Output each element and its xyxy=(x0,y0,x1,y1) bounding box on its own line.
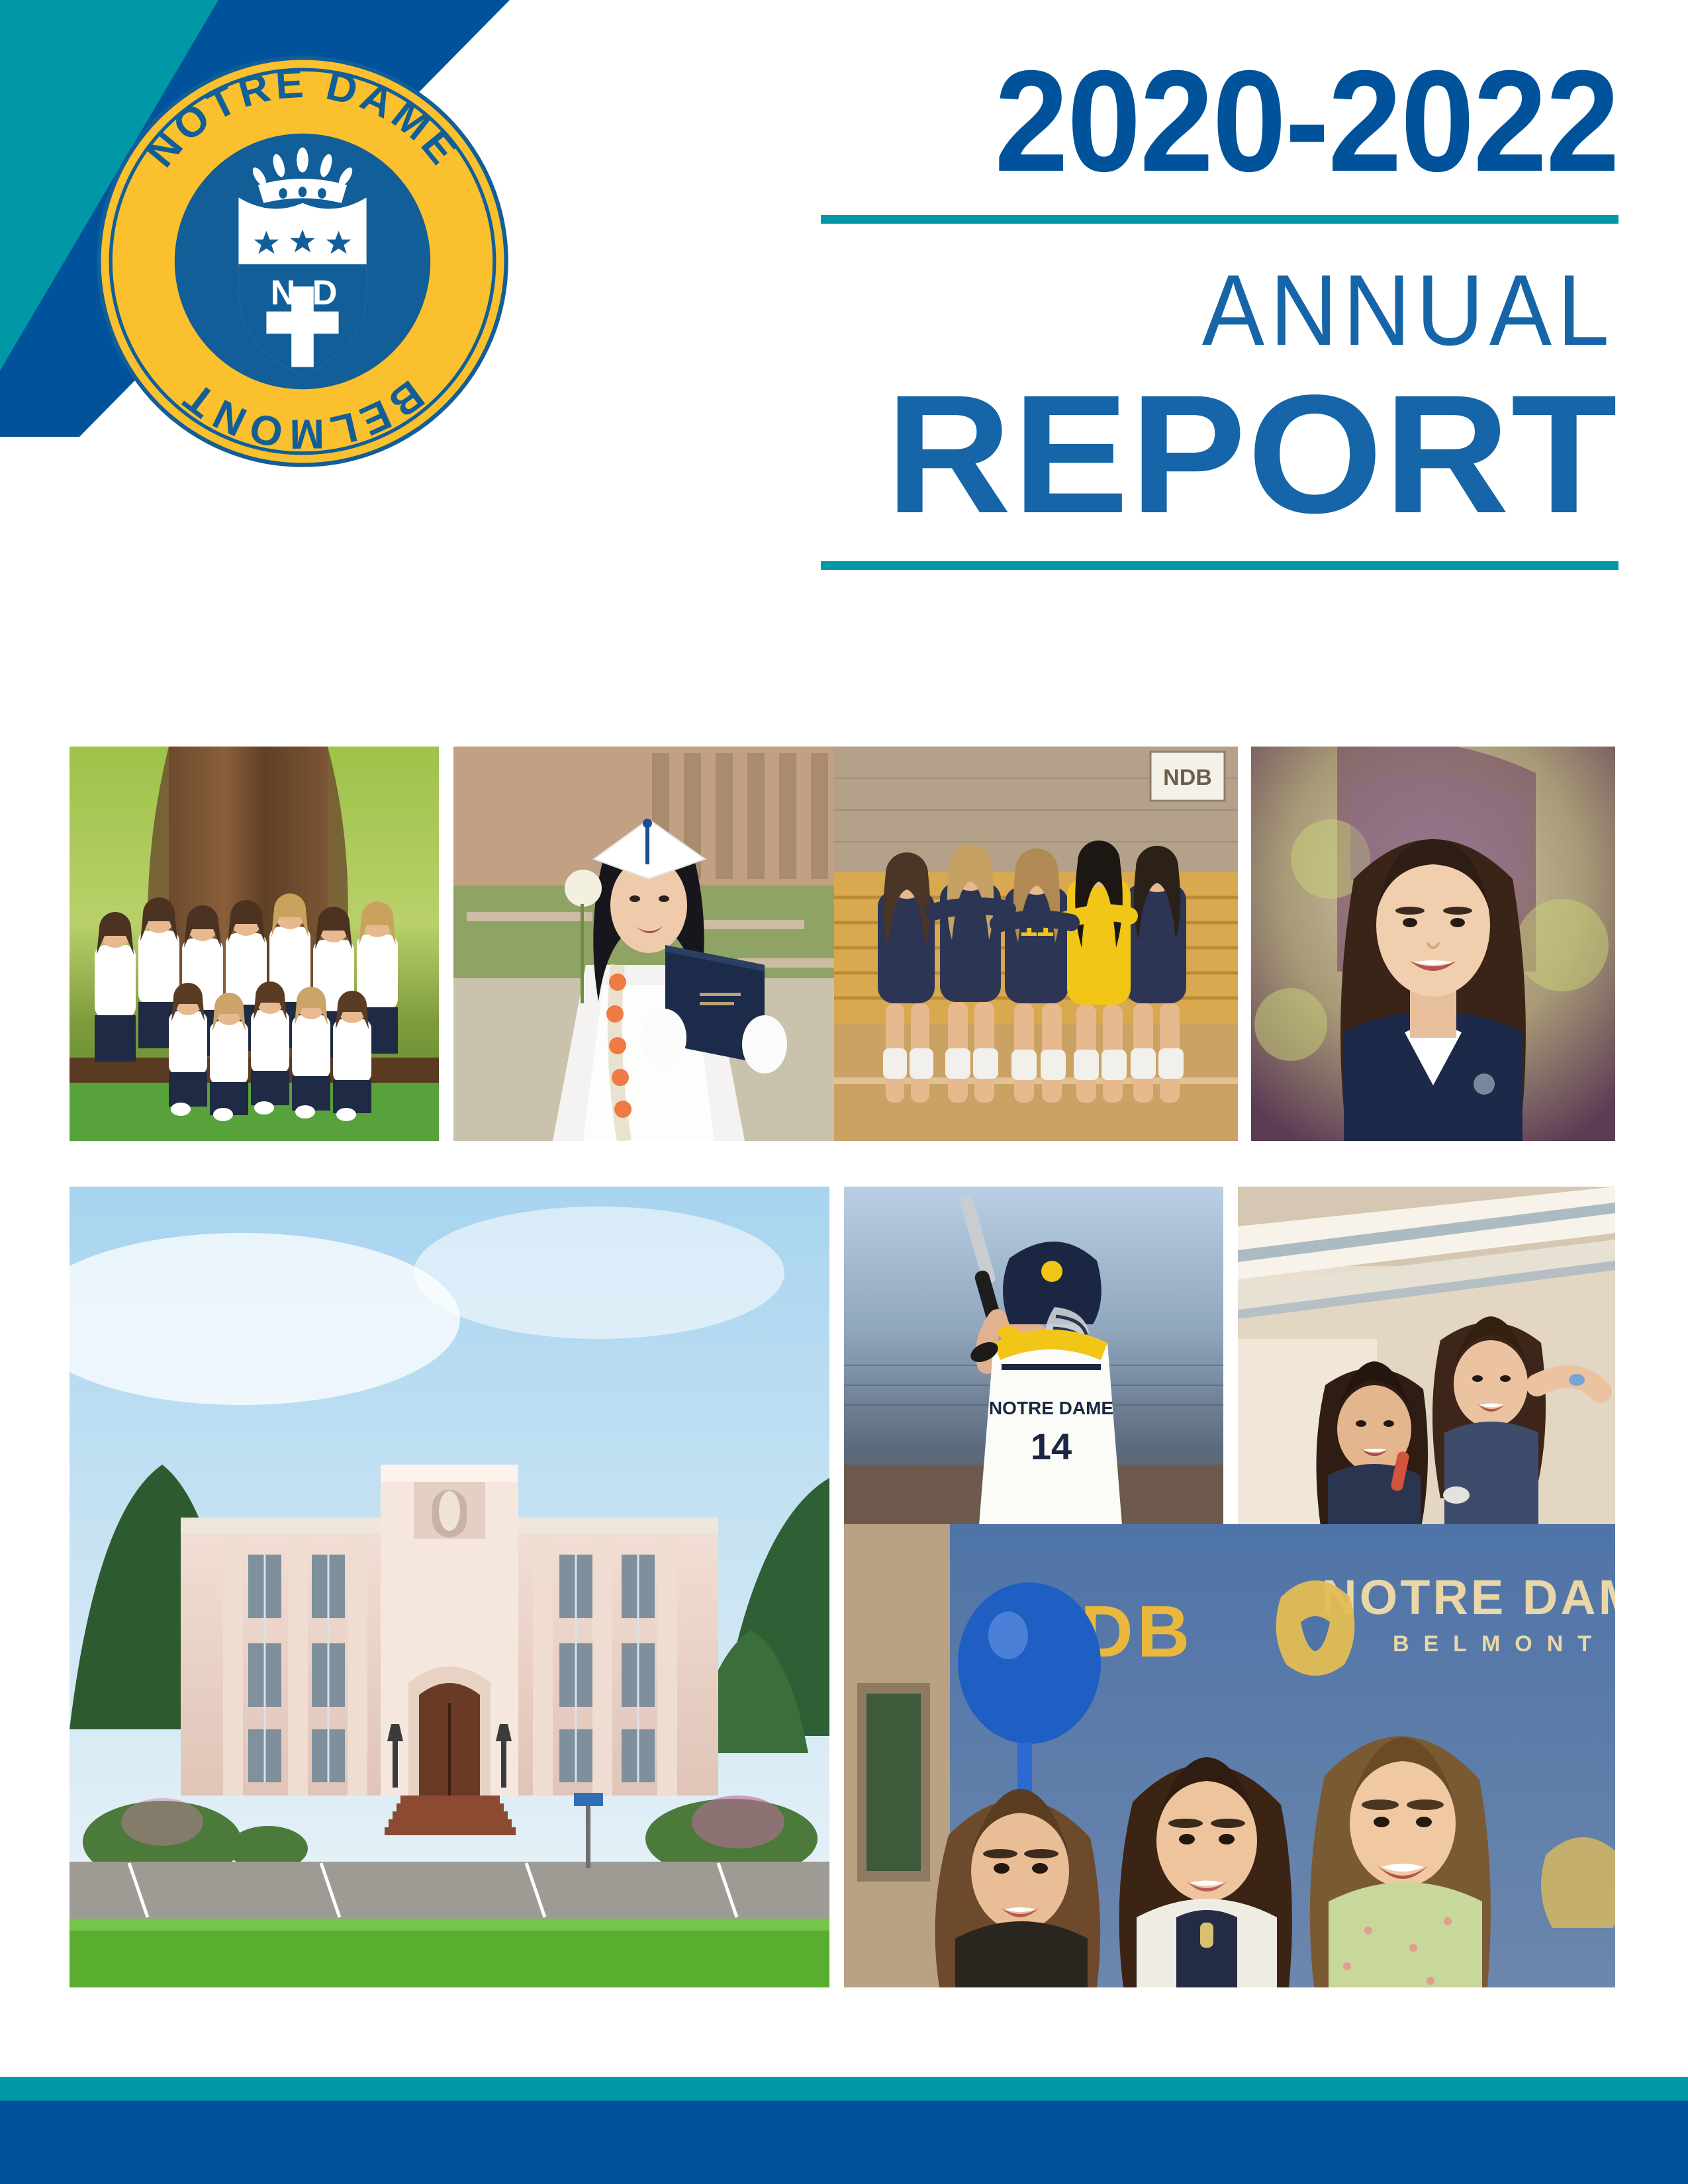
photo-collage: NDB xyxy=(70,747,1615,1987)
footer-teal-bar xyxy=(0,2077,1688,2101)
svg-text:NOTRE DAME: NOTRE DAME xyxy=(1321,1570,1615,1625)
svg-text:NOTRE DAME: NOTRE DAME xyxy=(989,1398,1113,1418)
photo-students-at-ndb-banner: NDB NOTRE DAME BELMONT xyxy=(844,1524,1615,1987)
svg-text:NDB: NDB xyxy=(1163,765,1212,790)
photo-graduate-with-diploma xyxy=(453,747,843,1141)
photo-softball-batter: NOTRE DAME 14 xyxy=(844,1187,1223,1547)
svg-text:14: 14 xyxy=(1031,1426,1072,1467)
report-subtitle: ANNUAL xyxy=(876,260,1618,361)
year-range: 2020-2022 xyxy=(884,53,1618,190)
title-divider-bottom xyxy=(821,561,1618,570)
shield-letter-d: D xyxy=(312,273,338,312)
shield-letter-n: N xyxy=(271,273,296,312)
photo-student-group-under-tree xyxy=(70,747,439,1141)
footer-blue-bar xyxy=(0,2101,1688,2184)
photo-volleyball-team-huddle: NDB xyxy=(834,747,1238,1141)
svg-text:BELMONT: BELMONT xyxy=(1393,1631,1606,1657)
title-divider-top xyxy=(821,215,1618,224)
page-title: REPORT xyxy=(797,370,1618,539)
report-cover-page: NOTRE DAME BELMONT xyxy=(0,0,1688,2184)
cover-title-block: 2020-2022 ANNUAL REPORT xyxy=(821,53,1618,570)
photo-student-portrait xyxy=(1251,747,1615,1141)
school-seal: NOTRE DAME BELMONT xyxy=(94,53,511,470)
photo-campus-main-building xyxy=(70,1187,829,1987)
photo-students-in-window xyxy=(1238,1187,1615,1547)
